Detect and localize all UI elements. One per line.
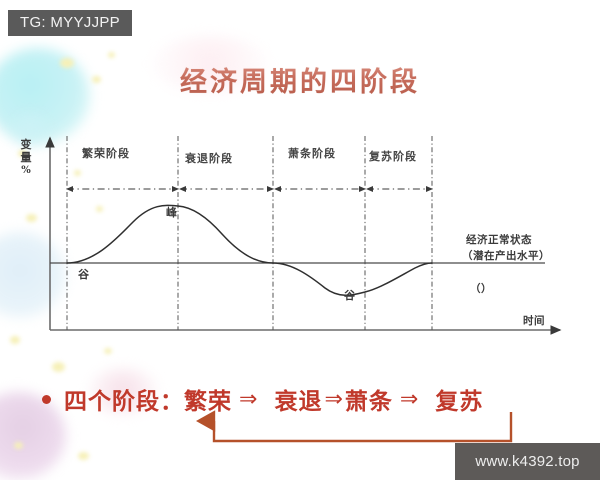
- arrow-icon-1: ⇒: [239, 387, 257, 412]
- arrow-icon-3: ⇒: [400, 387, 418, 412]
- phase-label-recession: 衰退阶段: [185, 150, 233, 166]
- business-cycle-curve: [67, 205, 432, 295]
- arrow-icon-2: ⇒: [324, 387, 342, 412]
- y-axis-char-2: %: [18, 164, 34, 177]
- summary-stage-boom: 繁荣: [184, 382, 232, 416]
- label-trough-start: 谷: [78, 266, 89, 282]
- summary-stage-recession: 衰退: [274, 382, 322, 416]
- site-watermark: www.k4392.top: [455, 443, 600, 480]
- x-axis-label: 时间: [523, 313, 545, 328]
- summary-stage-recovery: 复苏: [435, 382, 483, 416]
- bullet-icon: [42, 395, 51, 404]
- label-peak: 峰: [166, 204, 177, 220]
- summary-row: 四个阶段： 繁荣 ⇒ 衰退 ⇒ 萧条 ⇒ 复苏: [42, 380, 572, 418]
- phase-label-boom: 繁荣阶段: [82, 145, 130, 161]
- phase-label-recovery: 复苏阶段: [369, 148, 417, 164]
- summary-stage-depression: 萧条: [345, 382, 393, 416]
- y-axis-char-1: 量: [18, 151, 34, 164]
- y-axis-label: 变 量 %: [18, 138, 34, 177]
- slide-canvas: TG: MYYJJPP 经济周期的四阶段: [0, 0, 600, 480]
- phase-label-depression: 萧条阶段: [288, 145, 336, 161]
- y-axis-char-0: 变: [18, 138, 34, 151]
- normal-state-line-3: （）: [470, 281, 492, 296]
- normal-state-line-1: 经济正常状态: [466, 232, 532, 247]
- summary-prefix: 四个阶段：: [64, 382, 184, 416]
- normal-state-line-2: （潜在产出水平）: [462, 248, 550, 263]
- label-trough: 谷: [344, 287, 355, 303]
